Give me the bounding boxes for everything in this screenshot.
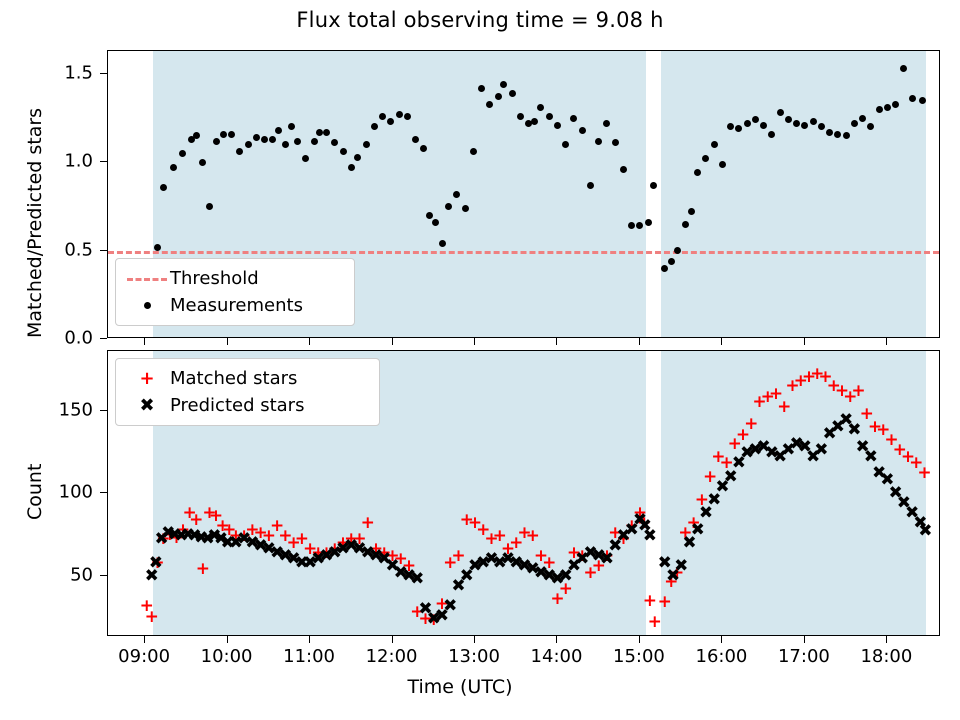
data-point xyxy=(206,203,213,210)
y-axis-tick xyxy=(100,73,107,74)
data-point xyxy=(884,104,891,111)
data-point xyxy=(546,113,553,120)
x-axis-tick xyxy=(804,338,805,345)
data-point xyxy=(404,113,411,120)
shaded-observing-block xyxy=(661,51,927,337)
matched-star-marker: + xyxy=(657,594,673,610)
cross-marker-icon: ✖ xyxy=(124,396,170,416)
x-axis-tick-label: 12:00 xyxy=(366,646,418,667)
data-point xyxy=(517,113,524,120)
bottom-y-axis-label: Count xyxy=(24,464,46,520)
data-point xyxy=(834,131,841,138)
x-axis-tick xyxy=(392,338,393,345)
x-axis-tick xyxy=(144,636,145,643)
data-point xyxy=(363,141,370,148)
data-point xyxy=(323,129,330,136)
x-axis-tick xyxy=(886,338,887,345)
x-axis-tick-label: 13:00 xyxy=(448,646,500,667)
x-axis-tick-label: 14:00 xyxy=(531,646,583,667)
x-axis-tick-label: 16:00 xyxy=(696,646,748,667)
data-point xyxy=(470,148,477,155)
data-point xyxy=(426,212,433,219)
predicted-star-marker: ✖ xyxy=(642,528,658,544)
data-point xyxy=(650,182,657,189)
data-point xyxy=(843,132,850,139)
y-axis-tick-label: 1.5 xyxy=(0,62,93,83)
matched-star-marker: + xyxy=(642,593,658,609)
predicted-star-marker: ✖ xyxy=(917,523,933,539)
data-point xyxy=(261,136,268,143)
data-point xyxy=(661,265,668,272)
x-axis-tick xyxy=(474,338,475,345)
x-axis-tick xyxy=(556,338,557,345)
data-point xyxy=(179,150,186,157)
legend-item-matched-stars: + Matched stars xyxy=(124,365,369,392)
x-axis-tick xyxy=(309,338,310,345)
x-axis-tick-label: 17:00 xyxy=(778,646,830,667)
data-point xyxy=(554,122,561,129)
y-axis-tick xyxy=(100,492,107,493)
y-axis-tick xyxy=(100,250,107,251)
x-axis-tick xyxy=(556,636,557,643)
predicted-star-marker: ✖ xyxy=(673,558,689,574)
legend-item-measurements: Measurements xyxy=(124,292,344,319)
data-point xyxy=(453,191,460,198)
y-axis-tick xyxy=(100,338,107,339)
data-point xyxy=(645,219,652,226)
y-axis-tick-label: 50 xyxy=(0,564,93,585)
x-axis-tick xyxy=(474,636,475,643)
data-point xyxy=(294,138,301,145)
data-point xyxy=(478,85,485,92)
x-axis-tick xyxy=(639,338,640,345)
figure-title: Flux total observing time = 9.08 h xyxy=(0,8,960,32)
data-point xyxy=(432,219,439,226)
data-point xyxy=(919,97,926,104)
data-point xyxy=(620,166,627,173)
x-axis-tick-label: 11:00 xyxy=(283,646,335,667)
data-point xyxy=(587,182,594,189)
data-point xyxy=(486,101,493,108)
data-point xyxy=(396,111,403,118)
y-axis-tick-label: 100 xyxy=(0,482,93,503)
measurements-dot-icon xyxy=(124,296,170,316)
data-point xyxy=(859,115,866,122)
x-axis-tick xyxy=(639,636,640,643)
data-point xyxy=(253,134,260,141)
predicted-star-marker: ✖ xyxy=(148,555,164,571)
y-axis-tick-label: 0.5 xyxy=(0,239,93,260)
data-point xyxy=(579,127,586,134)
data-point xyxy=(245,141,252,148)
data-point xyxy=(760,122,767,129)
data-point xyxy=(348,164,355,171)
data-point xyxy=(876,106,883,113)
x-axis-tick-label: 15:00 xyxy=(613,646,665,667)
matched-star-marker: + xyxy=(776,399,792,415)
data-point xyxy=(595,138,602,145)
x-axis-label: Time (UTC) xyxy=(407,676,512,698)
x-axis-tick xyxy=(227,338,228,345)
predicted-star-marker: ✖ xyxy=(813,442,829,458)
data-point xyxy=(193,132,200,139)
data-point xyxy=(851,120,858,127)
data-point xyxy=(711,141,718,148)
x-axis-tick xyxy=(309,636,310,643)
x-axis-tick xyxy=(721,636,722,643)
x-axis-tick xyxy=(804,636,805,643)
legend-label-threshold: Threshold xyxy=(170,268,259,289)
matched-star-marker: + xyxy=(144,609,160,625)
data-point xyxy=(160,184,167,191)
data-point xyxy=(668,258,675,265)
data-point xyxy=(909,95,916,102)
legend-label-matched-stars: Matched stars xyxy=(170,368,297,389)
x-axis-tick-label: 10:00 xyxy=(201,646,253,667)
figure-root: Flux total observing time = 9.08 h 0.00.… xyxy=(0,0,960,720)
data-point xyxy=(311,138,318,145)
data-point xyxy=(777,109,784,116)
legend-label-measurements: Measurements xyxy=(170,295,303,316)
data-point xyxy=(439,240,446,247)
threshold-line xyxy=(108,251,939,254)
matched-star-marker: + xyxy=(451,548,467,564)
y-axis-tick-label: 150 xyxy=(0,399,93,420)
legend-item-predicted-stars: ✖ Predicted stars xyxy=(124,392,369,419)
data-point xyxy=(682,221,689,228)
x-axis-tick-label: 18:00 xyxy=(860,646,912,667)
data-point xyxy=(810,118,817,125)
data-point xyxy=(768,131,775,138)
data-point xyxy=(531,118,538,125)
matched-star-marker: + xyxy=(851,383,867,399)
data-point xyxy=(412,136,419,143)
data-point xyxy=(719,161,726,168)
top-y-axis-label: Matched/Predicted stars xyxy=(24,108,46,338)
legend-item-threshold: Threshold xyxy=(124,265,344,292)
data-point xyxy=(282,141,289,148)
legend-label-predicted-stars: Predicted stars xyxy=(170,395,304,416)
y-axis-tick xyxy=(100,410,107,411)
data-point xyxy=(826,129,833,136)
threshold-dashed-line-icon xyxy=(124,269,170,289)
matched-star-marker: + xyxy=(647,614,663,630)
matched-star-marker: + xyxy=(360,515,376,531)
bottom-legend: + Matched stars ✖ Predicted stars xyxy=(115,358,380,426)
data-point xyxy=(744,120,751,127)
x-axis-tick-label: 09:00 xyxy=(118,646,170,667)
data-point xyxy=(220,131,227,138)
data-point xyxy=(509,90,516,97)
data-point xyxy=(354,154,361,161)
y-axis-tick xyxy=(100,161,107,162)
data-point xyxy=(462,205,469,212)
y-axis-tick-label: 0.0 xyxy=(0,328,93,349)
matched-star-marker: + xyxy=(195,561,211,577)
data-point xyxy=(688,208,695,215)
data-point xyxy=(154,244,161,251)
x-axis-tick xyxy=(144,338,145,345)
predicted-star-marker: ✖ xyxy=(690,522,706,538)
data-point xyxy=(228,131,235,138)
data-point xyxy=(892,101,899,108)
predicted-star-marker: ✖ xyxy=(409,571,425,587)
x-axis-tick xyxy=(721,338,722,345)
predicted-star-marker: ✖ xyxy=(442,598,458,614)
plus-marker-icon: + xyxy=(124,369,170,389)
matched-star-marker: + xyxy=(525,528,541,544)
data-point xyxy=(213,138,220,145)
data-point xyxy=(340,148,347,155)
top-legend: Threshold Measurements xyxy=(115,258,355,326)
matched-star-marker: + xyxy=(743,416,759,432)
predicted-star-marker: ✖ xyxy=(846,422,862,438)
y-axis-tick xyxy=(100,575,107,576)
y-axis-tick-label: 1.0 xyxy=(0,151,93,172)
x-axis-tick xyxy=(227,636,228,643)
data-point xyxy=(379,113,386,120)
x-axis-tick xyxy=(886,636,887,643)
x-axis-tick xyxy=(392,636,393,643)
matched-star-marker: + xyxy=(917,465,933,481)
